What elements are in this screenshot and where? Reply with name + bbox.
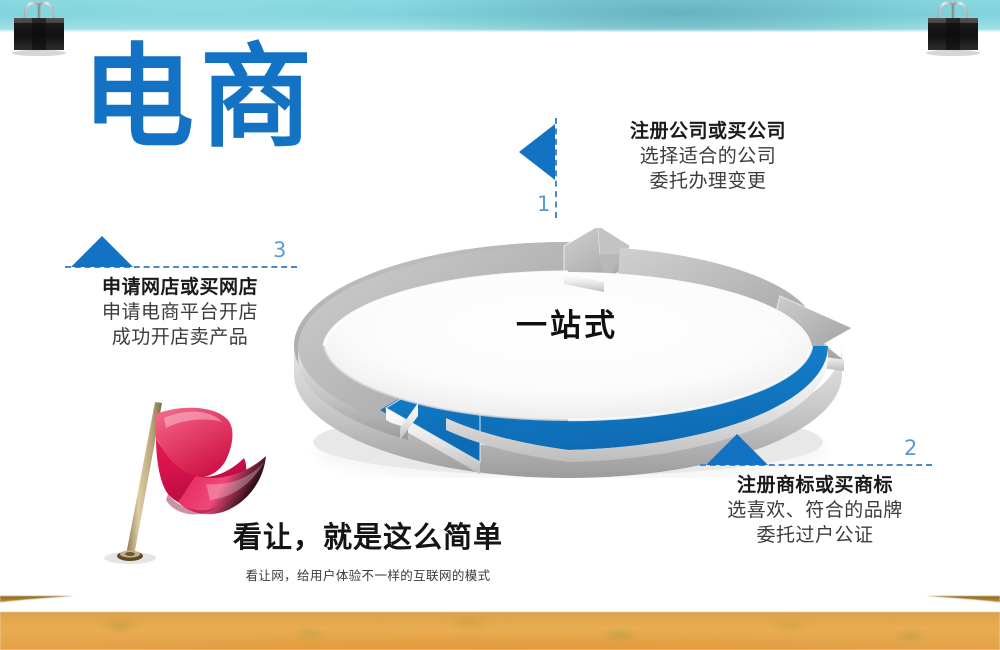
step-3-line-2: 成功开店卖产品 <box>55 325 305 350</box>
step-1-line-2: 委托办理变更 <box>583 169 833 194</box>
binder-clip-icon-left <box>8 0 70 56</box>
step-3-line-1: 申请电商平台开店 <box>55 300 305 325</box>
slogan-block: 看让，就是这么简单 看让网，给用户体验不一样的互联网的模式 <box>203 514 533 584</box>
binder-clip-icon-right <box>922 0 984 56</box>
field-texture <box>0 596 1000 650</box>
step-1-text: 注册公司或买公司 选择适合的公司 委托办理变更 <box>583 120 833 194</box>
step-3-block: 3 申请网店或买网店 申请电商平台开店 成功开店卖产品 <box>55 234 355 354</box>
step-1-dashed-rule <box>555 118 557 218</box>
step-2-title: 注册商标或买商标 <box>690 474 940 498</box>
triangle-left-icon <box>519 124 555 180</box>
triangle-up-icon <box>706 434 768 465</box>
step-1-number: 1 <box>537 192 550 216</box>
step-3-text: 申请网店或买网店 申请电商平台开店 成功开店卖产品 <box>55 276 305 350</box>
step-1-line-1: 选择适合的公司 <box>583 144 833 169</box>
slogan-subline: 看让网，给用户体验不一样的互联网的模式 <box>203 565 533 584</box>
step-1-block: 1 注册公司或买公司 选择适合的公司 委托办理变更 <box>537 112 837 222</box>
step-2-line-1: 选喜欢、符合的品牌 <box>690 498 940 523</box>
step-3-title: 申请网店或买网店 <box>55 276 305 300</box>
top-banner-band <box>0 0 1000 32</box>
step-2-number: 2 <box>904 436 917 460</box>
step-2-line-2: 委托过户公证 <box>690 523 940 548</box>
triangle-up-icon <box>71 236 133 267</box>
step-2-block: 2 注册商标或买商标 选喜欢、符合的品牌 委托过户公证 <box>690 432 990 552</box>
page-title: 电商 <box>82 42 318 154</box>
slogan-headline: 看让，就是这么简单 <box>203 514 533 556</box>
poster-canvas: 电商 <box>0 0 1000 650</box>
bottom-field-band <box>0 596 1000 650</box>
step-2-text: 注册商标或买商标 选喜欢、符合的品牌 委托过户公证 <box>690 474 940 548</box>
step-3-number: 3 <box>273 238 286 262</box>
step-1-title: 注册公司或买公司 <box>583 120 833 144</box>
